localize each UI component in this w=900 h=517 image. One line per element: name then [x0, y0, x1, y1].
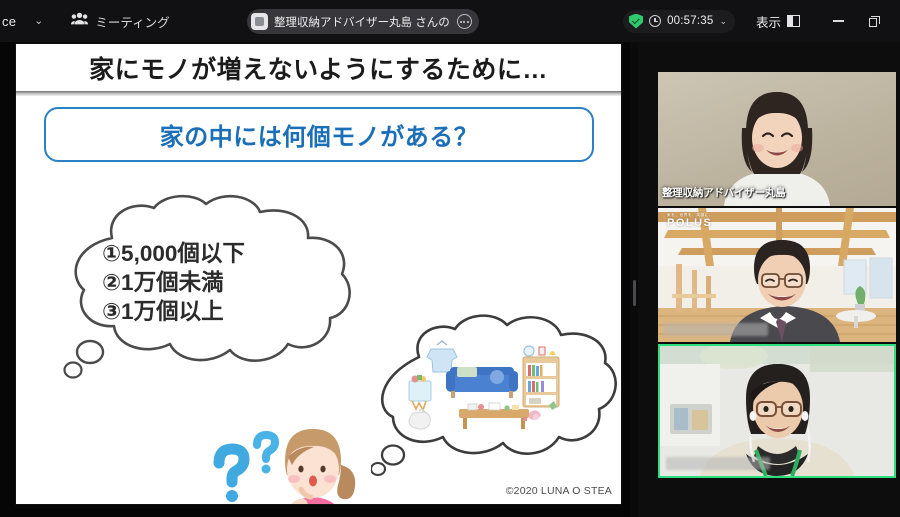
- panel-resize-handle[interactable]: [630, 42, 638, 517]
- polus-watermark: 家を、世界を、笑顔に。 POLUS: [667, 214, 713, 229]
- titlebar-right-group: 00:57:35 ⌄ 表示: [623, 0, 900, 42]
- blurred-name-label: [664, 323, 768, 336]
- people-icon: [71, 12, 88, 30]
- participant-name-label: 整理収納アドバイザー丸島: [662, 185, 786, 200]
- more-options-icon[interactable]: [457, 14, 472, 29]
- participant-tile[interactable]: 家を、世界を、笑顔に。 POLUS: [658, 208, 896, 342]
- titlebar-left-group: ce ⌄ ミーティング: [0, 0, 170, 42]
- shared-screen-stage[interactable]: 家にモノが増えないようにするために… 家の中には何個モノがある？ ①5,000個…: [0, 42, 630, 517]
- restore-button[interactable]: [856, 0, 892, 42]
- window-title-bar: ce ⌄ ミーティング 整理収納アドバイザー丸島 さんの: [0, 0, 900, 42]
- close-button[interactable]: [892, 0, 900, 42]
- chevron-down-icon[interactable]: ⌄: [16, 14, 49, 27]
- minimize-button[interactable]: [820, 0, 856, 42]
- chevron-down-icon[interactable]: ⌄: [719, 16, 727, 27]
- page-title: 家にモノが増えないようにするために…: [16, 50, 621, 86]
- title-divider: [16, 91, 621, 96]
- list-item: ③1万個以上: [102, 298, 245, 327]
- meeting-window: ce ⌄ ミーティング 整理収納アドバイザー丸島 さんの: [0, 0, 900, 517]
- meeting-nav-item[interactable]: ミーティング: [71, 12, 169, 31]
- meeting-timer: 00:57:35: [667, 15, 713, 27]
- meeting-status-pill[interactable]: 00:57:35 ⌄: [623, 10, 735, 33]
- window-controls: [820, 0, 900, 42]
- participant-tile-active-speaker[interactable]: [658, 344, 896, 478]
- clock-icon: [649, 15, 661, 27]
- living-room-thought-cloud: [371, 309, 621, 484]
- shared-content-tab[interactable]: 整理収納アドバイザー丸島 さんの: [247, 9, 479, 34]
- view-button-label: 表示: [756, 12, 781, 31]
- question-box-text: 家の中には何個モノがある？: [160, 117, 479, 152]
- shared-content-title: 整理収納アドバイザー丸島 さんの: [274, 14, 450, 30]
- blurred-name-label: [666, 457, 770, 470]
- copyright-text: ©2020 LUNA O STEA: [506, 485, 612, 497]
- resize-grip-icon: [633, 280, 636, 306]
- presentation-slide: 家にモノが増えないようにするために… 家の中には何個モノがある？ ①5,000個…: [15, 43, 622, 505]
- options-list: ①5,000個以下 ②1万個未満 ③1万個以上: [102, 240, 245, 326]
- participant-video-panel: 整理収納アドバイザー丸島: [638, 42, 900, 517]
- layout-view-icon: [787, 15, 800, 27]
- view-layout-button[interactable]: 表示: [756, 12, 800, 31]
- app-icon: [251, 13, 268, 30]
- participant-tile[interactable]: 整理収納アドバイザー丸島: [658, 72, 896, 206]
- thinking-woman-illustration: [261, 419, 366, 505]
- options-thought-cloud: ①5,000個以下 ②1万個未満 ③1万個以上: [54, 192, 374, 382]
- question-box: 家の中には何個モノがある？: [44, 107, 594, 162]
- meeting-label: ミーティング: [95, 12, 169, 31]
- list-item: ②1万個未満: [102, 269, 245, 298]
- list-item: ①5,000個以下: [102, 240, 245, 269]
- workspace-label[interactable]: ce: [0, 14, 16, 29]
- shield-check-icon: [629, 14, 643, 29]
